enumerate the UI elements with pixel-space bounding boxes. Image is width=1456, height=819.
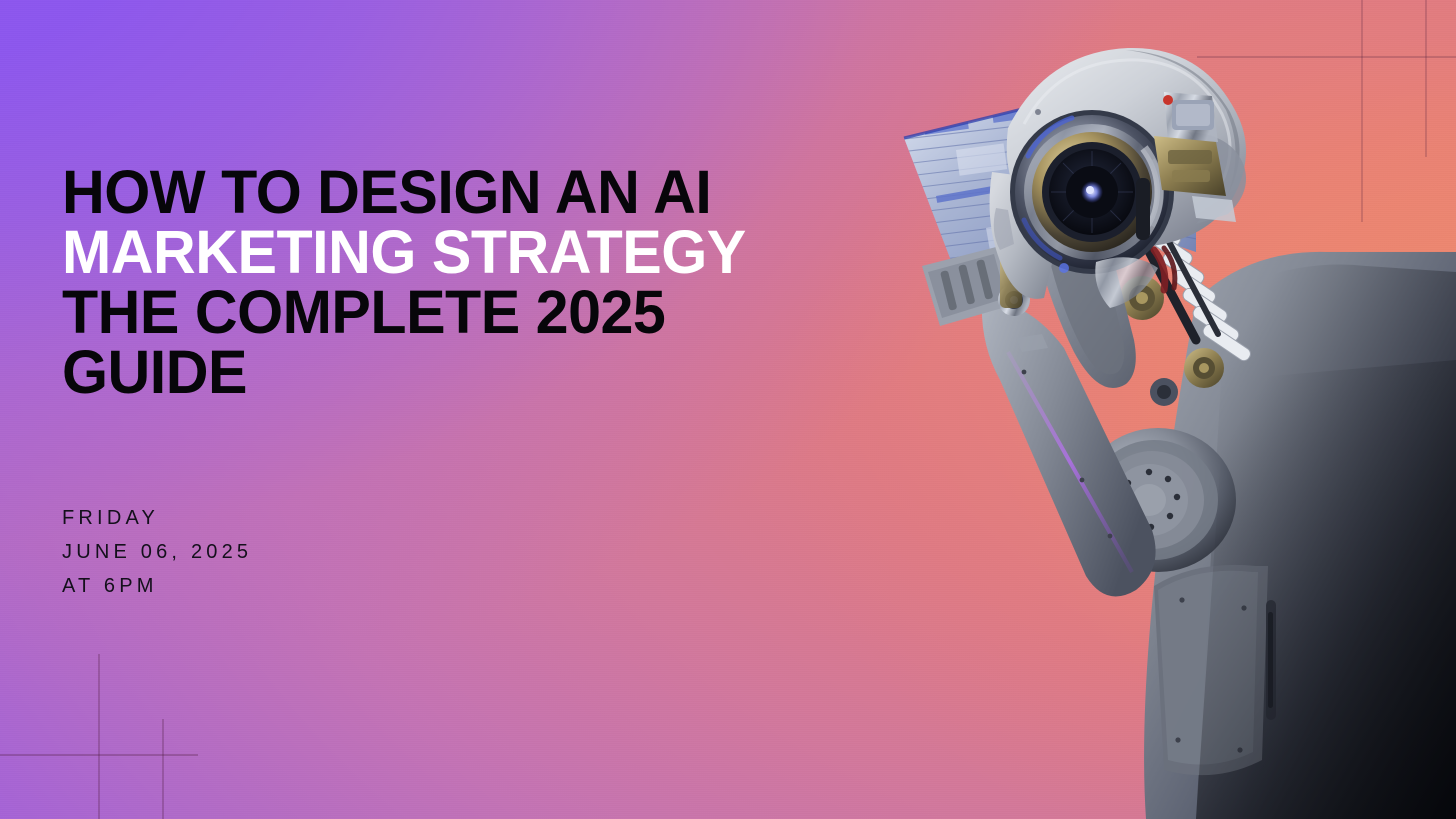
headline-line-4: GUIDE — [62, 342, 916, 402]
neck-gear-lower — [1184, 348, 1224, 388]
robot-illustration: I — [896, 0, 1456, 819]
event-details: FRIDAY JUNE 06, 2025 AT 6PM — [62, 501, 942, 603]
headline-line-3: THE COMPLETE 2025 — [62, 282, 916, 342]
headline-line-2: MARKETING STRATEGY — [62, 222, 916, 282]
event-date: JUNE 06, 2025 — [62, 535, 942, 569]
event-time: AT 6PM — [62, 569, 942, 603]
headline-line-1: HOW TO DESIGN AN AI — [62, 162, 916, 222]
banner-content: HOW TO DESIGN AN AI MARKETING STRATEGY T… — [62, 0, 942, 819]
event-day: FRIDAY — [62, 501, 942, 535]
promo-banner: I — [0, 0, 1456, 819]
page-title: HOW TO DESIGN AN AI MARKETING STRATEGY T… — [62, 162, 916, 402]
